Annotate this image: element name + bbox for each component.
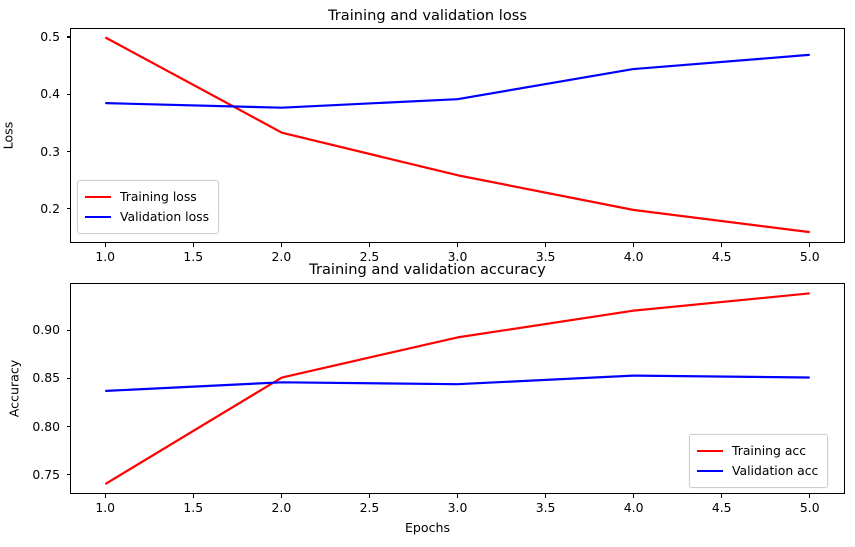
accuracy-legend: Training acc Validation acc (689, 434, 828, 488)
x-tick-label: 2.0 (256, 500, 306, 515)
x-tick-label: 3.0 (433, 500, 483, 515)
x-tick-label: 4.5 (697, 500, 747, 515)
x-tick-mark (545, 494, 546, 498)
loss-legend: Training loss Validation loss (77, 180, 219, 234)
y-tick-mark (67, 94, 71, 95)
series-line-validation-acc (106, 376, 809, 391)
y-tick-mark (67, 151, 71, 152)
x-tick-mark (105, 494, 106, 498)
legend-label-validation-loss: Validation loss (120, 211, 209, 223)
legend-item-training-acc: Training acc (697, 441, 818, 461)
x-tick-mark (721, 494, 722, 498)
x-tick-mark (281, 243, 282, 247)
x-tick-mark (369, 494, 370, 498)
y-tick-label: 0.75 (14, 467, 60, 482)
matplotlib-figure: Training and validation loss Loss 0.20.3… (0, 0, 855, 547)
legend-item-validation-loss: Validation loss (85, 207, 209, 227)
training-acc-color-swatch (697, 450, 723, 452)
y-tick-label: 0.2 (14, 201, 60, 216)
x-axis-label: Epochs (0, 520, 855, 535)
y-tick-mark (67, 36, 71, 37)
x-tick-mark (721, 243, 722, 247)
y-tick-label: 0.90 (14, 322, 60, 337)
x-tick-mark (457, 243, 458, 247)
x-tick-label: 4.0 (609, 500, 659, 515)
y-tick-mark (67, 426, 71, 427)
accuracy-chart-title: Training and validation accuracy (0, 261, 855, 278)
y-tick-mark (67, 330, 71, 331)
x-tick-mark (193, 243, 194, 247)
x-tick-label: 2.5 (344, 500, 394, 515)
validation-acc-color-swatch (697, 470, 723, 472)
x-tick-mark (281, 494, 282, 498)
validation-loss-color-swatch (85, 216, 111, 218)
y-tick-mark (67, 378, 71, 379)
loss-chart-title: Training and validation loss (0, 7, 855, 24)
x-tick-mark (633, 494, 634, 498)
x-tick-mark (457, 494, 458, 498)
x-tick-label: 5.0 (785, 500, 835, 515)
y-tick-label: 0.80 (14, 419, 60, 434)
x-tick-label: 1.5 (168, 500, 218, 515)
legend-label-training-loss: Training loss (120, 191, 197, 203)
y-tick-mark (67, 208, 71, 209)
training-loss-color-swatch (85, 196, 111, 198)
x-tick-mark (193, 494, 194, 498)
legend-item-validation-acc: Validation acc (697, 461, 818, 481)
y-tick-mark (67, 474, 71, 475)
series-line-validation-loss (106, 55, 809, 108)
accuracy-y-axis-label: Accuracy (7, 359, 22, 419)
x-tick-mark (633, 243, 634, 247)
x-tick-label: 1.0 (80, 500, 130, 515)
legend-label-validation-acc: Validation acc (732, 465, 818, 477)
y-tick-label: 0.3 (14, 144, 60, 159)
y-tick-label: 0.4 (14, 86, 60, 101)
x-tick-mark (545, 243, 546, 247)
y-tick-label: 0.85 (14, 370, 60, 385)
legend-label-training-acc: Training acc (732, 445, 806, 457)
y-tick-label: 0.5 (14, 29, 60, 44)
x-tick-mark (369, 243, 370, 247)
legend-item-training-loss: Training loss (85, 187, 209, 207)
x-tick-mark (809, 243, 810, 247)
x-tick-label: 3.5 (521, 500, 571, 515)
x-tick-mark (809, 494, 810, 498)
x-tick-mark (105, 243, 106, 247)
